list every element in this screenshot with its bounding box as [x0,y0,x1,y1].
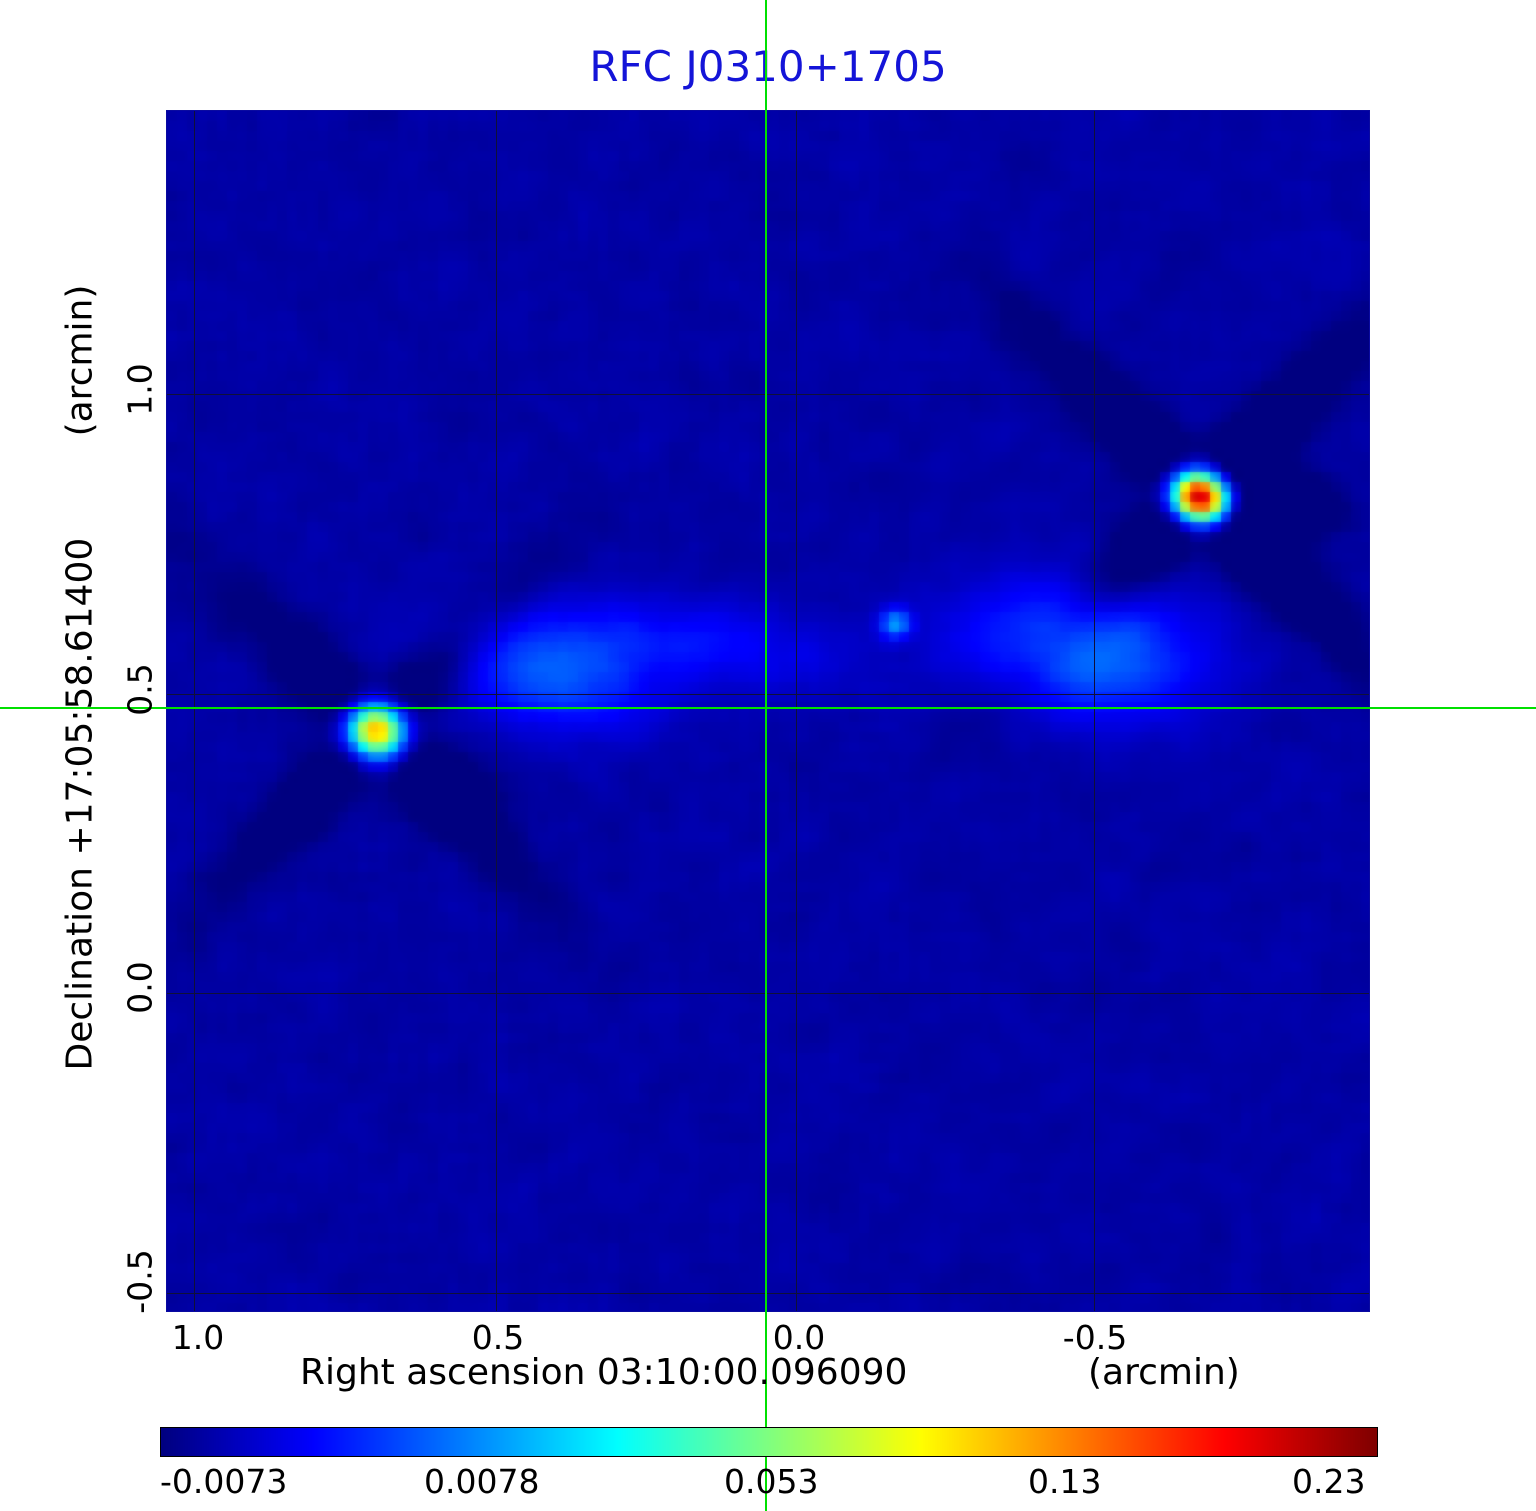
y-axis-units: (arcmin) [60,221,101,501]
colorbar-tick-5: 0.23 [1292,1462,1365,1501]
x-axis-units: (arcmin) [1088,1352,1240,1393]
x-axis-title: Right ascension 03:10:00.096090 [300,1352,907,1393]
crosshair-vertical[interactable] [765,0,767,1511]
colorbar-gradient [160,1427,1378,1457]
colorbar-tick-3: 0.053 [724,1462,818,1501]
colorbar-tick-4: 0.13 [1028,1462,1101,1501]
page-title: RFC J0310+1705 [0,42,1536,91]
ytick-label-1: 1.0 [121,350,160,430]
colorbar-tick-2: 0.0078 [424,1462,539,1501]
xtick-label-1: 1.0 [158,1318,238,1357]
ytick-label-4: -0.5 [121,1237,160,1327]
radio-map-canvas [167,111,1370,1312]
sky-image-panel[interactable] [166,110,1370,1312]
colorbar[interactable] [160,1427,1378,1457]
y-axis-title: Declination +17:05:58.61400 [60,631,101,1071]
colorbar-tick-1: -0.0073 [160,1462,287,1501]
ytick-label-3: 0.0 [121,948,160,1028]
ytick-label-2: 0.5 [121,650,160,730]
crosshair-horizontal[interactable] [0,707,1536,709]
